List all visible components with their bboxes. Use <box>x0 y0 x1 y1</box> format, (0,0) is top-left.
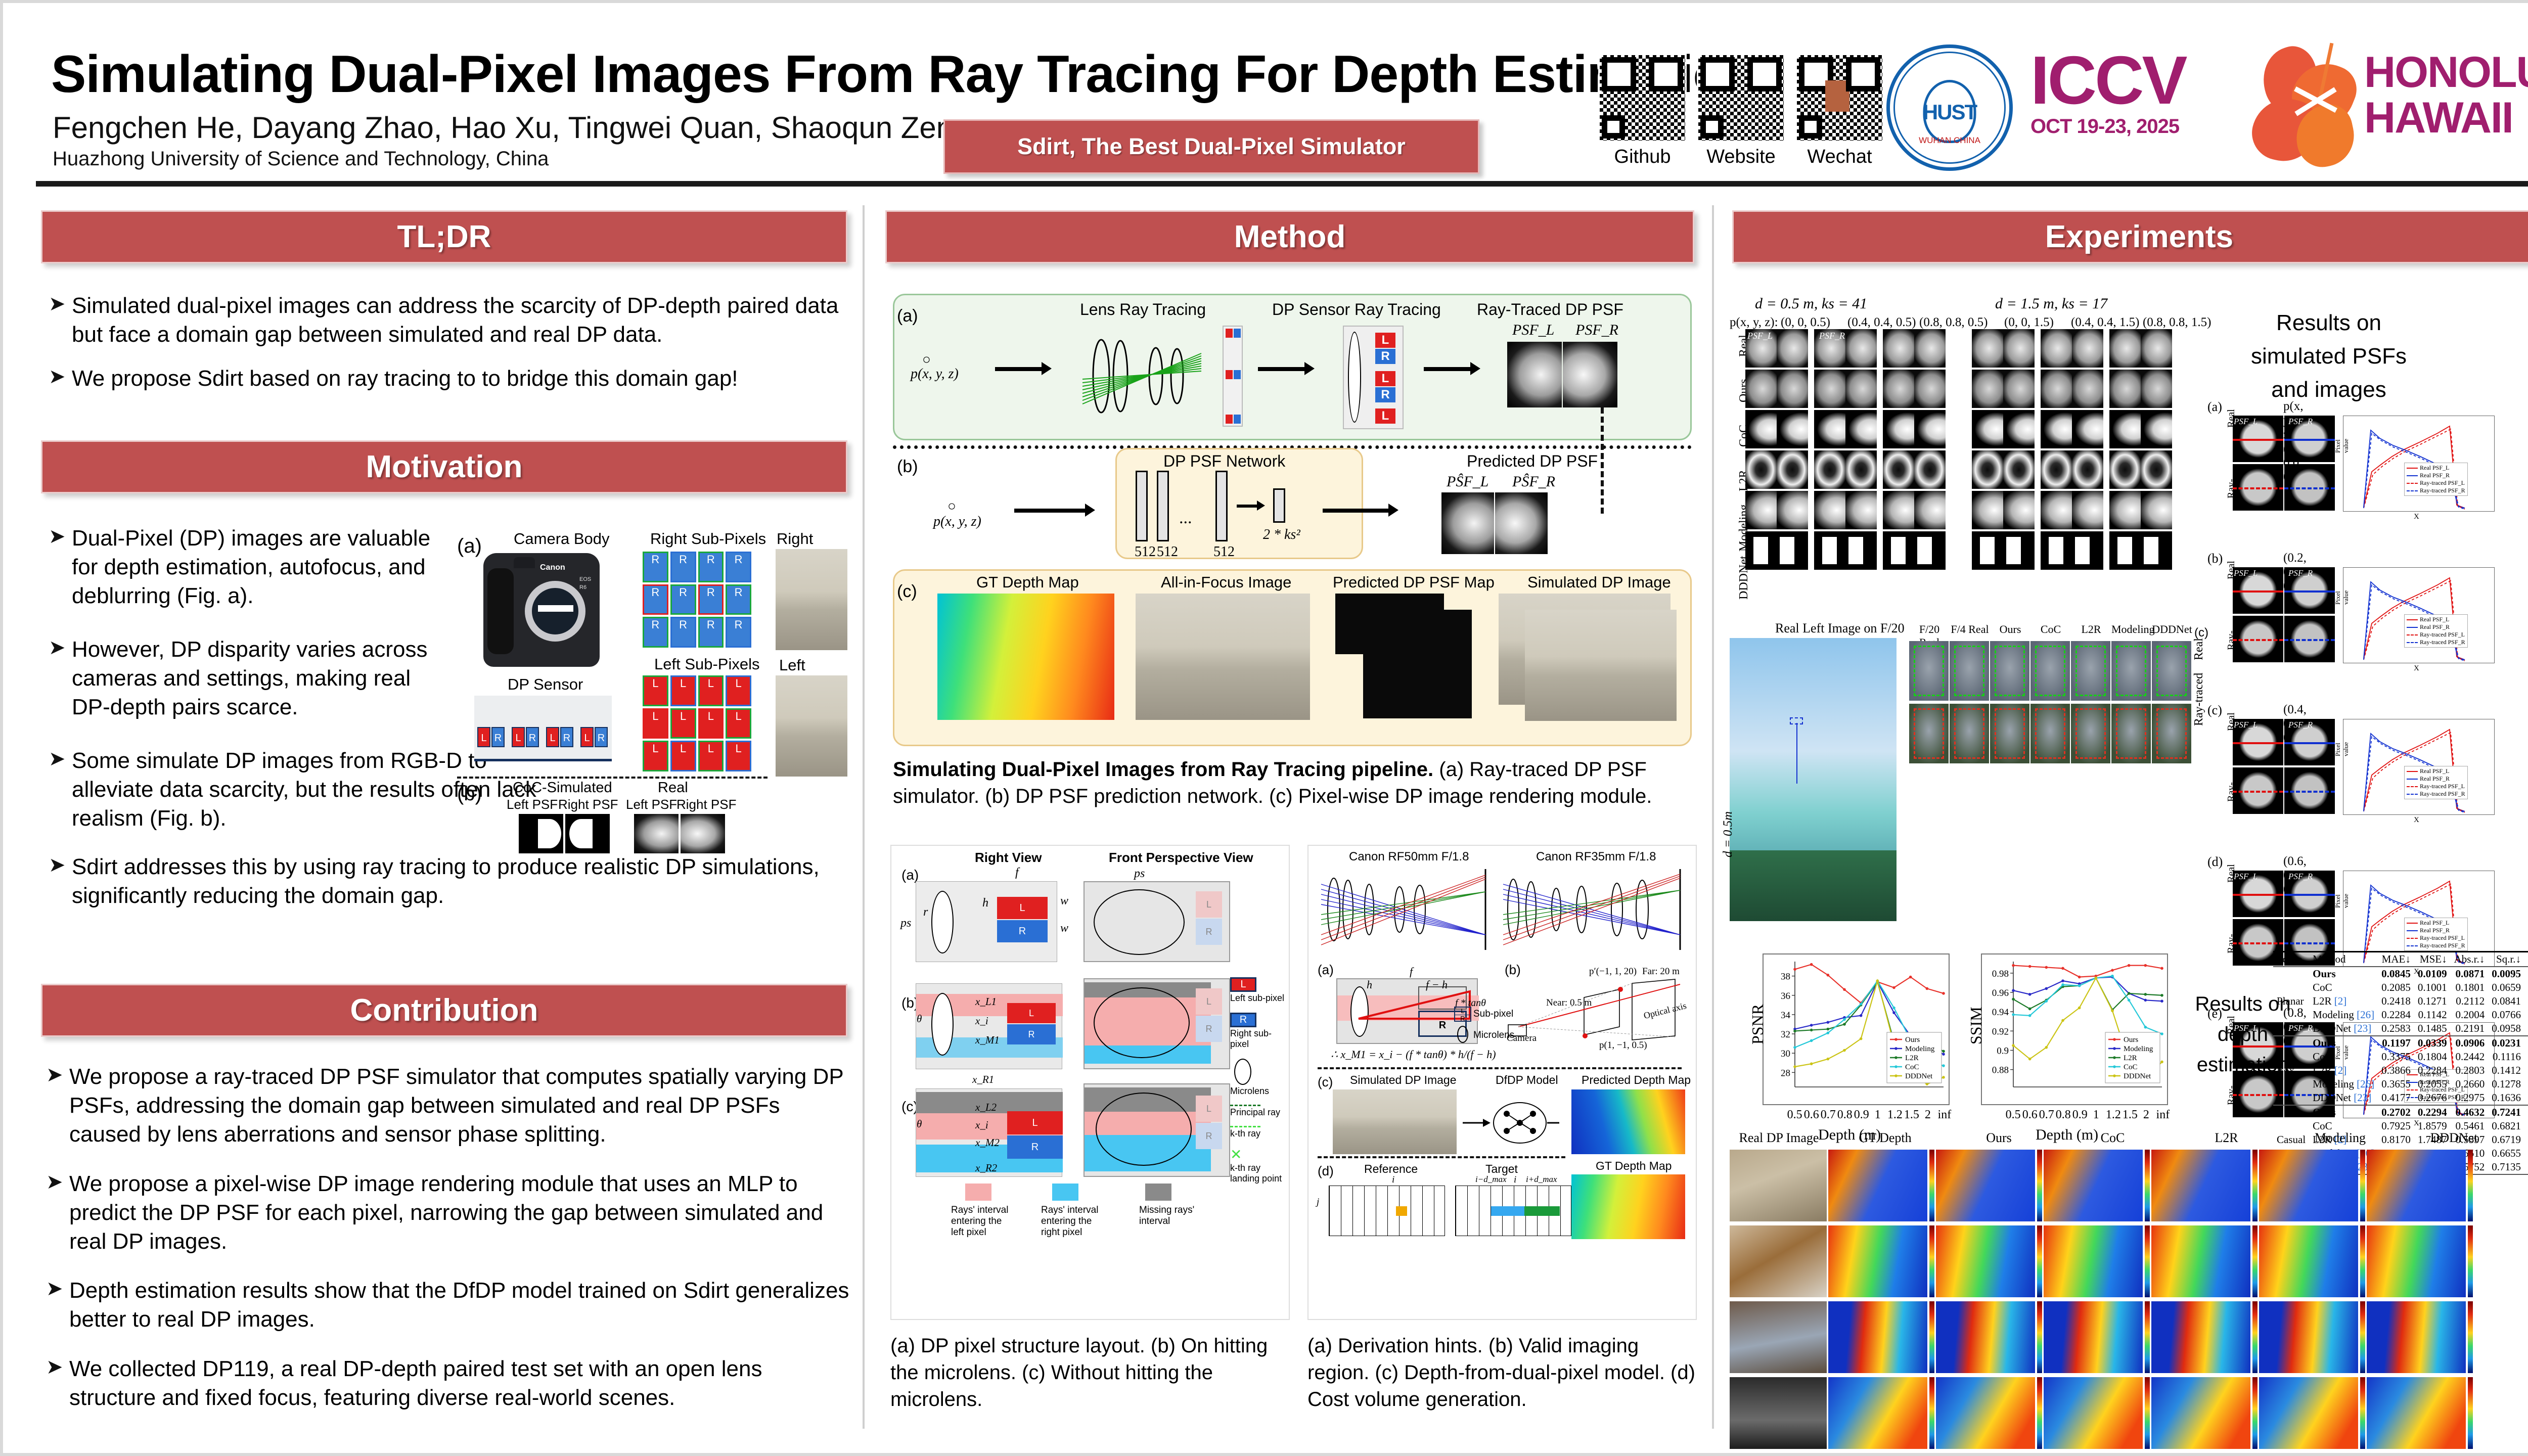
right-image-thumb <box>776 549 847 650</box>
gt-depth-map-label-r: GT Depth Map <box>1596 1159 1672 1173</box>
sensor-cell-R: R <box>595 727 608 747</box>
gt-depth-map-label: GT Depth Map <box>976 573 1079 591</box>
right-psf-label: Right PSF <box>676 797 737 812</box>
section-heading-tldr: TL;DR <box>41 210 847 263</box>
psf-r-label: PSF_R <box>1575 322 1618 339</box>
sensor-cell-L: L <box>477 727 490 747</box>
psf-cell <box>2072 410 2103 448</box>
ic-cell <box>1909 641 1949 701</box>
table-col-header: Acc-1↑ <box>2524 952 2528 967</box>
psf-col-4: (0, 0, 1.5) <box>2004 315 2054 330</box>
psf-cell <box>2141 450 2172 489</box>
near-label: Near: 0.5 m <box>1546 997 1592 1009</box>
metric-cell: 0.7241 <box>2488 1105 2524 1119</box>
depth-map-cell <box>1936 1225 2035 1297</box>
psf-cell <box>1745 410 1777 448</box>
psf-cell <box>1777 531 1808 570</box>
metric-cell: 0.6496 <box>2524 1008 2528 1022</box>
symbol-h: h <box>982 896 988 910</box>
profile-legend: Real PSF_LReal PSF_RRay-traced PSF_LRay-… <box>2404 614 2468 648</box>
metric-cell: 0.1412 <box>2488 1064 2524 1077</box>
psf-row <box>1745 410 2178 448</box>
list-item: ➤ We propose a pixel-wise DP image rende… <box>46 1169 852 1256</box>
psf-map-bottom <box>1363 610 1472 718</box>
right-view-label: Right View <box>975 850 1042 866</box>
symbol-theta-c: θ <box>917 1118 922 1130</box>
colorbar <box>2145 1225 2150 1297</box>
symbol-ps: ps <box>900 917 911 930</box>
psf-cell <box>1814 410 1845 448</box>
colorbar <box>2252 1301 2258 1373</box>
psf-cell <box>1745 450 1777 489</box>
psf-cell <box>1845 450 1877 489</box>
real-right-psf <box>681 814 725 853</box>
method-cell: DDDNet [23] <box>2309 1091 2378 1105</box>
psf-cell <box>1972 531 2003 570</box>
var-xR2: x_R2 <box>975 1162 997 1174</box>
psf-cell <box>1883 410 1914 448</box>
svg-text:0.88: 0.88 <box>1992 1065 2009 1076</box>
affiliation: Huazhong University of Science and Techn… <box>53 148 549 170</box>
colorbar <box>2360 1225 2365 1297</box>
ray-traced-dp-psf-label: Ray-Traced DP PSF <box>1477 300 1623 319</box>
psf-hat-l-label: PŜF_L <box>1447 473 1488 490</box>
sensor-cell-R: R <box>560 727 573 747</box>
panel-c-label-r: (c) <box>1318 1074 1333 1090</box>
metric-cell: 0.2702 <box>2378 1105 2414 1119</box>
bullet-text: Dual-Pixel (DP) images are valuable for … <box>72 524 448 611</box>
x-tick: 1 <box>1871 1108 1885 1122</box>
scene-cell: Box <box>2273 1064 2309 1077</box>
psf-cell <box>2141 410 2172 448</box>
colorbar <box>2360 1301 2365 1373</box>
depth-row <box>1730 1377 2474 1449</box>
psf-cell <box>2109 531 2141 570</box>
ic-row-raytraced: Ray-traced <box>2192 673 2206 726</box>
gt-depth-map-thumb <box>1571 1174 1685 1239</box>
scene-cell <box>2273 1036 2309 1050</box>
metric-cell: 0.9474 <box>2524 1036 2528 1050</box>
profile-psf-l: PSF_L <box>2234 1023 2258 1033</box>
x-tick: 0.8 <box>2056 1108 2070 1122</box>
metric-cell: 0.1142 <box>2414 1008 2451 1022</box>
table-row: BoxL2R [2]0.38660.22840.28030.14120.3651… <box>2273 1064 2528 1077</box>
x-tick: inf <box>2156 1108 2170 1122</box>
psf-cell <box>1914 491 1946 529</box>
bullet-arrow-icon: ➤ <box>49 364 72 393</box>
depth-map-cell <box>2151 1377 2250 1449</box>
contribution-bullets: ➤ We propose a ray-traced DP PSF simulat… <box>46 1062 852 1427</box>
p-near-label: p(1, −1, 0.5) <box>1599 1040 1647 1051</box>
ic-row-real: Real <box>2192 638 2206 660</box>
table-row: Ours0.27020.22940.46320.72410.82360.9314 <box>2273 1105 2528 1119</box>
sensor-cell-R: R <box>526 727 539 747</box>
qr-code-icon[interactable] <box>1598 54 1687 142</box>
ssim-ylabel: SSIM <box>1967 1007 1985 1044</box>
colorbar <box>1929 1150 1934 1221</box>
mlp-output-layer <box>1273 488 1285 523</box>
panel-label-b: (b) <box>897 457 918 477</box>
profile-psf-l: PSF_L <box>2234 568 2258 578</box>
list-item: ➤ Depth estimation results show that the… <box>46 1276 852 1334</box>
table-col-header: Scene <box>2273 952 2309 967</box>
sensor-cell-L: L <box>512 727 525 747</box>
psf-cell <box>2041 491 2072 529</box>
depth-map-cell <box>1828 1301 1927 1373</box>
profile-plot: Real PSF_LReal PSF_RRay-traced PSF_LRay-… <box>2343 719 2495 815</box>
real-left-psf <box>634 814 679 853</box>
metric-cell: 0.4412 <box>2524 1050 2528 1064</box>
depth-map-cell <box>2259 1225 2358 1297</box>
panel-b-label-r: (b) <box>1505 962 1521 978</box>
pred-depth-map-label: Predicted Depth Map <box>1582 1073 1691 1087</box>
predicted-depth-map-thumb <box>1571 1089 1685 1154</box>
psf-row <box>1745 450 2178 489</box>
column-divider-2 <box>1712 205 1714 1429</box>
dp-pixel-structure-figure: Right View Front Perspective View (a) (b… <box>890 845 1290 1320</box>
table-col-header: MAE↓ <box>2378 952 2414 967</box>
bullet-text: Depth estimation results show that the D… <box>69 1276 852 1334</box>
legend-label-left-subpixel: Left sub-pixel <box>1230 993 1290 1004</box>
colorbar <box>2252 1377 2258 1449</box>
iccv-name: ICCV <box>2030 49 2186 112</box>
colorbar <box>1929 1301 1934 1373</box>
psf-l-label: PSF_L <box>1512 322 1554 339</box>
depth-map-cell <box>2044 1301 2143 1373</box>
bullet-text: We propose Sdirt based on ray tracing to… <box>72 364 738 393</box>
iccv-dates: OCT 19-23, 2025 <box>2030 115 2186 138</box>
ssim-xticks: 0.50.60.70.80.911.21.52inf <box>1981 1108 2168 1123</box>
coc-left-psf <box>519 814 563 853</box>
var-xM1: x_M1 <box>975 1034 1000 1046</box>
colorbar <box>2468 1225 2473 1297</box>
method-caption: Simulating Dual-Pixel Images from Ray Tr… <box>893 756 1692 810</box>
svg-text:0.9: 0.9 <box>1997 1046 2009 1057</box>
depth-map-cell <box>2367 1225 2466 1297</box>
bullet-arrow-icon: ➤ <box>46 1354 69 1412</box>
x-tick: 1 <box>2089 1108 2103 1122</box>
qr-github[interactable]: Github <box>1598 54 1687 168</box>
psf-l-image <box>1507 342 1562 407</box>
ic-cell <box>2030 641 2070 701</box>
page-title: Simulating Dual-Pixel Images From Ray Tr… <box>51 44 1578 105</box>
metric-cell: 0.2481 <box>2524 1160 2528 1174</box>
metric-cell: 0.0845 <box>2378 967 2414 981</box>
psf-cell <box>2003 531 2035 570</box>
metric-cell: 0.0231 <box>2488 1036 2524 1050</box>
var-xi-c: x_i <box>975 1119 988 1131</box>
psf-cell <box>1745 491 1777 529</box>
ssim-chart: 0.880.90.920.940.960.98OursModelingL2RCo… <box>1981 953 2168 1105</box>
psf-cell <box>1777 410 1808 448</box>
psf-cell <box>1745 531 1777 570</box>
x-tick: 0.6 <box>2022 1108 2037 1122</box>
profile-ylabel: Pixel value <box>2334 742 2350 756</box>
colorbar <box>2037 1225 2042 1297</box>
colorbar <box>2252 1225 2258 1297</box>
depth-map-cell <box>2151 1150 2250 1221</box>
camera-model-2: R6 <box>579 584 586 590</box>
figure-right-caption: (a) Derivation hints. (b) Valid imaging … <box>1307 1333 1697 1413</box>
scene-cell <box>2273 1091 2309 1105</box>
var-xL2: x_L2 <box>975 1101 997 1114</box>
x-tick: inf <box>1937 1108 1952 1122</box>
camera-body-icon: Canon EOS R6 <box>483 553 600 667</box>
arrow-1 <box>995 367 1042 371</box>
bullet-arrow-icon: ➤ <box>46 1062 69 1149</box>
depth-map-cell <box>2259 1150 2358 1221</box>
method-cell: CoC <box>2309 1050 2378 1064</box>
bullet-text: We propose a pixel-wise DP image renderi… <box>69 1169 852 1256</box>
metric-cell: 0.2760 <box>2524 1133 2528 1147</box>
method-cell: Modeling [26] <box>2309 1077 2378 1091</box>
metric-cell: 0.3866 <box>2378 1064 2414 1077</box>
list-item: ➤ We propose Sdirt based on ray tracing … <box>49 364 847 393</box>
depth-row <box>1730 1150 2474 1221</box>
depth-map-cell <box>2044 1150 2143 1221</box>
idx-i-target: i <box>1514 1174 1516 1186</box>
legend-label-landing-point: k-th ray landing point <box>1230 1163 1290 1184</box>
psf-cell <box>2141 370 2172 408</box>
ic-row <box>1909 641 2192 701</box>
table-row: Ours0.08450.01090.08710.00950.98490.9997 <box>2273 967 2528 981</box>
qr-code-icon[interactable] <box>1795 54 1884 142</box>
qr-wechat[interactable]: Wechat <box>1795 54 1884 168</box>
depth-col-header: GT Depth <box>1828 1130 1942 1146</box>
ic-cell <box>2071 704 2110 763</box>
ic-cell <box>2111 704 2151 763</box>
psf-cell <box>1814 370 1845 408</box>
depth-grid <box>1730 1150 2474 1453</box>
predicted-dp-psf-label: Predicted DP PSF <box>1467 452 1598 471</box>
principal-ray-icon <box>1230 1105 1260 1106</box>
list-item: ➤ However, DP disparity varies across ca… <box>49 635 448 722</box>
x-tick: 0.8 <box>1837 1108 1852 1122</box>
lens1-label: Canon RF50mm F/1.8 <box>1349 850 1469 864</box>
metric-cell: 0.9849 <box>2524 967 2528 981</box>
ellipsis: ... <box>1179 509 1192 528</box>
layer-size-3: 512 <box>1213 544 1235 560</box>
depth-col-header: L2R <box>2170 1130 2283 1146</box>
front-perspective-view-label: Front Perspective View <box>1109 850 1253 866</box>
depth-map-cell <box>1828 1377 1927 1449</box>
motivation-bullets-3: ➤ Sdirt addresses this by using ray trac… <box>49 852 847 925</box>
psf-cell <box>1777 491 1808 529</box>
tagline-badge: Sdirt, The Best Dual-Pixel Simulator <box>943 119 1479 174</box>
metric-cell: 0.2660 <box>2451 1077 2489 1091</box>
x-tick: 0.5 <box>2006 1108 2020 1122</box>
reference-grid <box>1329 1186 1445 1236</box>
idx-j: j <box>1317 1197 1319 1208</box>
ic-cell <box>1950 641 1989 701</box>
svg-text:28: 28 <box>1781 1068 1790 1078</box>
var-xL1: x_L1 <box>975 995 997 1008</box>
metric-cell: 0.0095 <box>2488 967 2524 981</box>
ic-cell <box>1990 641 2029 701</box>
profile-legend: Real PSF_LReal PSF_RRay-traced PSF_LRay-… <box>2404 766 2468 799</box>
psf-cell <box>2109 370 2141 408</box>
depth-row <box>1730 1225 2474 1297</box>
svg-text:34: 34 <box>1781 1010 1791 1021</box>
section-heading-method: Method <box>885 210 1694 263</box>
profile-xlabel: X <box>2414 816 2419 825</box>
idx-minus-dmax: i−d_max <box>1475 1174 1507 1185</box>
profile-legend: Real PSF_LReal PSF_RRay-traced PSF_LRay-… <box>2404 918 2468 951</box>
psf-cell <box>2041 410 2072 448</box>
psf-cell <box>1845 410 1877 448</box>
metric-cell: 0.2975 <box>2451 1091 2489 1105</box>
metric-cell: 0.3456 <box>2524 1091 2528 1105</box>
symbol-r: r <box>923 905 928 919</box>
colorbar <box>2252 1150 2258 1221</box>
bullet-text: We propose a ray-traced DP PSF simulator… <box>69 1062 852 1149</box>
profile-psf-r: PSF_R <box>2288 872 2313 882</box>
city-line2: HAWAII <box>2364 95 2528 141</box>
qr-label: Website <box>1706 146 1776 168</box>
metric-cell: 0.6319 <box>2524 994 2528 1008</box>
table-row: PlanarL2R [2]0.24180.12710.21120.08410.6… <box>2273 994 2528 1008</box>
metric-cell: 0.3651 <box>2524 1064 2528 1077</box>
reference-label: Reference <box>1364 1162 1418 1176</box>
metric-cell: 0.0871 <box>2451 967 2489 981</box>
idx-plus-dmax: i+d_max <box>1526 1174 1557 1185</box>
sym-f: f <box>1410 965 1413 978</box>
svg-text:0.94: 0.94 <box>1992 1007 2009 1018</box>
metric-cell: 0.8236 <box>2524 1105 2528 1119</box>
psf-cell <box>1914 450 1946 489</box>
scene-cell <box>2273 1008 2309 1022</box>
metric-cell: 0.6655 <box>2488 1147 2524 1160</box>
column-divider-1 <box>863 205 865 1429</box>
sensor-R: R <box>1375 349 1395 364</box>
profile-psf-image <box>2284 464 2335 511</box>
table-row: Ours0.11970.03390.09060.02310.94740.9812 <box>2273 1036 2528 1050</box>
lens-ray-tracing-diagram <box>1080 326 1242 427</box>
x-tick: 1.5 <box>1904 1108 1918 1122</box>
tldr-bullets: ➤ Simulated dual-pixel images can addres… <box>49 291 847 408</box>
method-cell: Ours <box>2309 967 2378 981</box>
x-tick: 1.2 <box>2106 1108 2120 1122</box>
qr-website[interactable]: Website <box>1697 54 1785 168</box>
table-col-header: Method <box>2309 952 2378 967</box>
psf-cell <box>1972 410 2003 448</box>
author-list: Fengchen He, Dayang Zhao, Hao Xu, Tingwe… <box>53 110 970 145</box>
layer-size-2: 512 <box>1157 544 1178 560</box>
bullet-text: Sdirt addresses this by using ray tracin… <box>72 852 847 910</box>
ic-cell <box>2030 704 2070 763</box>
qr-code-icon[interactable] <box>1697 54 1785 142</box>
microlens-icon <box>1234 1059 1251 1085</box>
metric-cell: 0.3375 <box>2378 1050 2414 1064</box>
psf-cell <box>2072 329 2103 368</box>
symbol-w2: w <box>1060 922 1068 935</box>
output-size-label: 2 * ks² <box>1263 527 1300 543</box>
svg-text:36: 36 <box>1781 991 1790 1002</box>
list-item: ➤ We collected DP119, a real DP-depth pa… <box>46 1354 852 1412</box>
psf-col-2: (0.4, 0.4, 0.5) <box>1847 315 1916 330</box>
psf-cell <box>2041 329 2072 368</box>
legend-label-microlens: Microlens <box>1230 1086 1290 1097</box>
sensor-L: L <box>1375 333 1395 348</box>
bullet-arrow-icon: ➤ <box>49 746 72 833</box>
iccv-logo: ICCV OCT 19-23, 2025 <box>2030 49 2186 138</box>
metric-cell: 0.1116 <box>2488 1050 2524 1064</box>
metric-cell: 0.7135 <box>2488 1160 2524 1174</box>
sensor-cell-L: L <box>546 727 559 747</box>
conference-city: HONOLULU HAWAII <box>2364 50 2528 141</box>
psf-col-5: (0.4, 0.4, 1.5) <box>2071 315 2139 330</box>
symbol-theta-b: θ <box>917 1013 922 1025</box>
lens1-raytrace-diagram <box>1319 864 1496 955</box>
profile-psf-image <box>2233 616 2283 662</box>
psf-row <box>1745 491 2178 529</box>
symbol-ps-front: ps <box>1134 867 1145 881</box>
psf-cell <box>1745 370 1777 408</box>
x-tick: 0.7 <box>1821 1108 1835 1122</box>
real-dp-image-cell <box>1730 1377 1827 1449</box>
sensor-column <box>1223 326 1243 427</box>
depth-col-header: Ours <box>1942 1130 2056 1146</box>
table-row: Modeling [26]0.22840.11420.20040.07660.6… <box>2273 1008 2528 1022</box>
depth-map-cell <box>2367 1301 2466 1373</box>
psf-cell <box>1972 491 2003 529</box>
psf-cell <box>2041 531 2072 570</box>
sym-fh: f − h <box>1426 978 1448 991</box>
left-psf-label: Left PSF <box>507 797 558 812</box>
psf-cell <box>2109 491 2141 529</box>
section-heading-contribution: Contribution <box>41 984 847 1037</box>
psf-cell <box>1972 329 2003 368</box>
all-in-focus-image <box>1136 594 1310 720</box>
scene-cell <box>2273 1050 2309 1064</box>
metric-cell: 0.1485 <box>2414 1022 2451 1036</box>
psf-r-image <box>1563 342 1617 407</box>
dp-sensor-detail: L R L R L <box>1343 326 1404 429</box>
var-xM2: x_M2 <box>975 1136 1000 1149</box>
depth-map-cell <box>2044 1225 2143 1297</box>
method-cell: L2R [2] <box>2309 1064 2378 1077</box>
ic-cell <box>1990 704 2029 763</box>
metric-cell: 0.1636 <box>2488 1091 2524 1105</box>
real-left-image-big <box>1730 638 1897 921</box>
metric-cell: 0.1801 <box>2451 981 2489 994</box>
target-label: Target <box>1485 1162 1518 1176</box>
svg-text:L2R: L2R <box>2124 1054 2137 1062</box>
real-dp-image-cell <box>1730 1225 1827 1297</box>
var-xi: x_i <box>975 1015 988 1027</box>
method-cell: Modeling [26] <box>2309 1008 2378 1022</box>
dfdp-model-label: DfDP Model <box>1496 1073 1558 1087</box>
psf-cell <box>1777 450 1808 489</box>
left-subpixels-label: Left Sub-Pixels <box>654 655 760 673</box>
metric-cell: 0.0906 <box>2451 1036 2489 1050</box>
psf-cell <box>1845 370 1877 408</box>
x-tick: 0.6 <box>1804 1108 1818 1122</box>
psf-col-1: (0, 0, 0.5) <box>1781 315 1830 330</box>
bullet-text: Simulated dual-pixel images can address … <box>72 291 847 349</box>
metric-cell: 0.2978 <box>2524 1147 2528 1160</box>
interval-label-missing: Missing rays' interval <box>1139 1205 1200 1227</box>
panel-a-label-r: (a) <box>1318 962 1334 978</box>
profile-legend: Real PSF_LReal PSF_RRay-traced PSF_LRay-… <box>2404 463 2468 496</box>
profile-psf-r: PSF_R <box>2288 1023 2313 1033</box>
sim-dp-image-thumb <box>1333 1089 1457 1154</box>
metric-cell: 0.5648 <box>2524 1022 2528 1036</box>
ic-cell <box>2111 641 2151 701</box>
var-xR1: x_R1 <box>972 1073 994 1086</box>
profile-panel-label: (d) <box>2207 854 2223 870</box>
psf-cell <box>1972 370 2003 408</box>
